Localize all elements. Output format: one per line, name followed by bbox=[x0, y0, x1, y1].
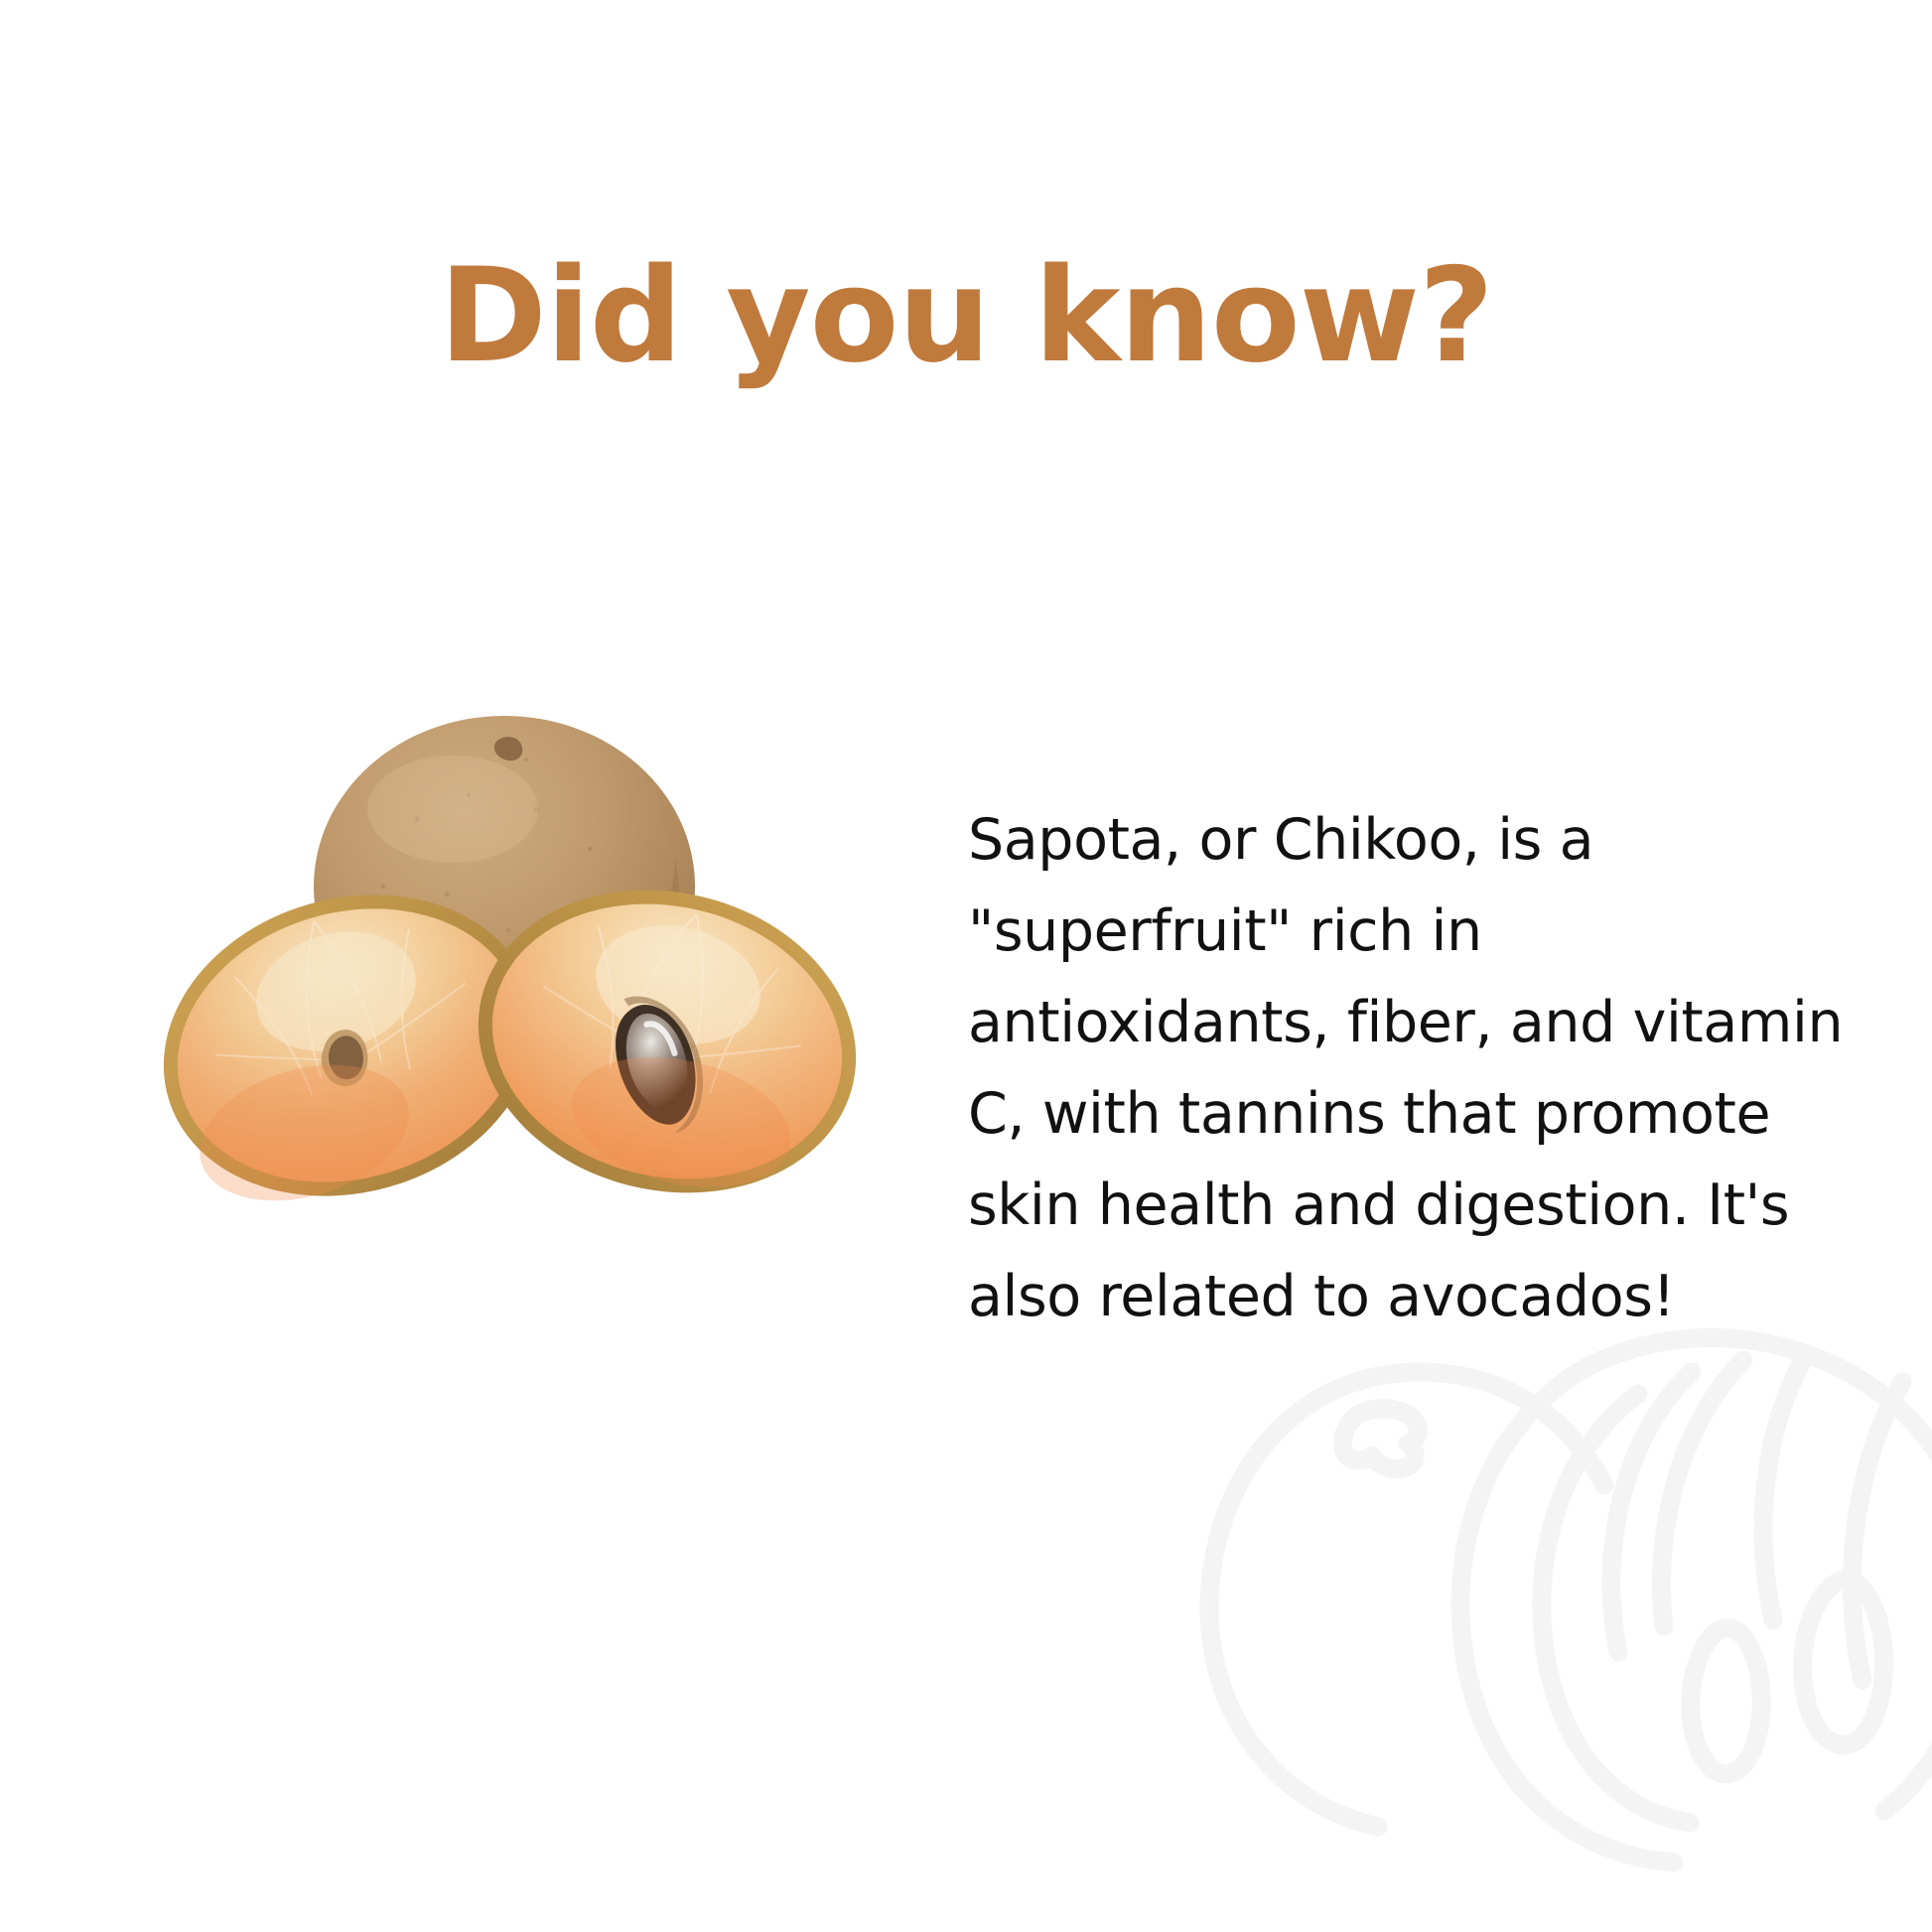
body-line: also related to avocados! bbox=[968, 1251, 1802, 1342]
body-line: Sapota, or Chikoo, is a bbox=[968, 794, 1802, 886]
body-line: antioxidants, fiber, and vitamin bbox=[968, 977, 1802, 1068]
fruit-line-art-watermark-icon bbox=[1122, 1311, 1932, 1932]
page-title: Did you know? bbox=[0, 250, 1932, 380]
sapota-fruit-photo bbox=[119, 700, 913, 1256]
body-line: "superfruit" rich in bbox=[968, 886, 1802, 977]
body-paragraph: Sapota, or Chikoo, is a "superfruit" ric… bbox=[968, 794, 1802, 1342]
poster-canvas: Did you know? bbox=[0, 0, 1932, 1932]
body-line: skin health and digestion. It's bbox=[968, 1160, 1802, 1251]
body-line: C, with tannins that promote bbox=[968, 1068, 1802, 1160]
